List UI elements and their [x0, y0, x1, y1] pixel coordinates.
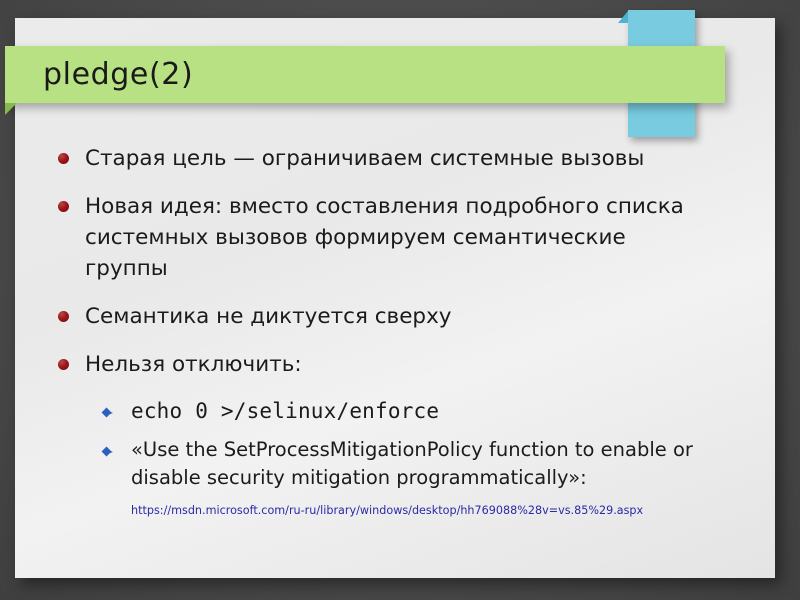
- accent-bar-notch: [618, 11, 628, 23]
- bullet-dot-icon: [58, 359, 69, 370]
- sub-list: echo 0 >/selinux/enforce «Use the SetPro…: [102, 397, 750, 518]
- arrow-diamond-icon: [102, 408, 113, 419]
- slide-body: Старая цель — ограничиваем системные выз…: [40, 143, 750, 518]
- code-text: echo 0 >/selinux/enforce: [131, 397, 439, 425]
- bullet-text: Семантика не диктуется сверху: [85, 301, 452, 332]
- slide-canvas: Старая цель — ограничиваем системные выз…: [0, 0, 800, 600]
- list-item: Новая идея: вместо составления подробног…: [40, 191, 750, 284]
- sub-list-item-quote: «Use the SetProcessMitigationPolicy func…: [102, 436, 750, 492]
- title-band: pledge(2): [5, 46, 725, 103]
- list-item: Семантика не диктуется сверху: [40, 301, 750, 332]
- sub-list-item-code: echo 0 >/selinux/enforce: [102, 397, 750, 425]
- arrow-diamond-icon: [102, 447, 113, 458]
- bullet-dot-icon: [58, 311, 69, 322]
- quote-text: «Use the SetProcessMitigationPolicy func…: [131, 436, 716, 492]
- list-item: Старая цель — ограничиваем системные выз…: [40, 143, 750, 174]
- list-item: Нельзя отключить:: [40, 349, 750, 380]
- title-band-notch: [5, 103, 17, 115]
- bullet-text: Нельзя отключить:: [85, 349, 302, 380]
- page-title: pledge(2): [43, 57, 193, 92]
- reference-link[interactable]: https://msdn.microsoft.com/ru-ru/library…: [131, 503, 750, 518]
- bullet-dot-icon: [58, 153, 69, 164]
- bullet-text: Новая идея: вместо составления подробног…: [85, 191, 705, 284]
- bullet-dot-icon: [58, 201, 69, 212]
- bullet-text: Старая цель — ограничиваем системные выз…: [85, 143, 644, 174]
